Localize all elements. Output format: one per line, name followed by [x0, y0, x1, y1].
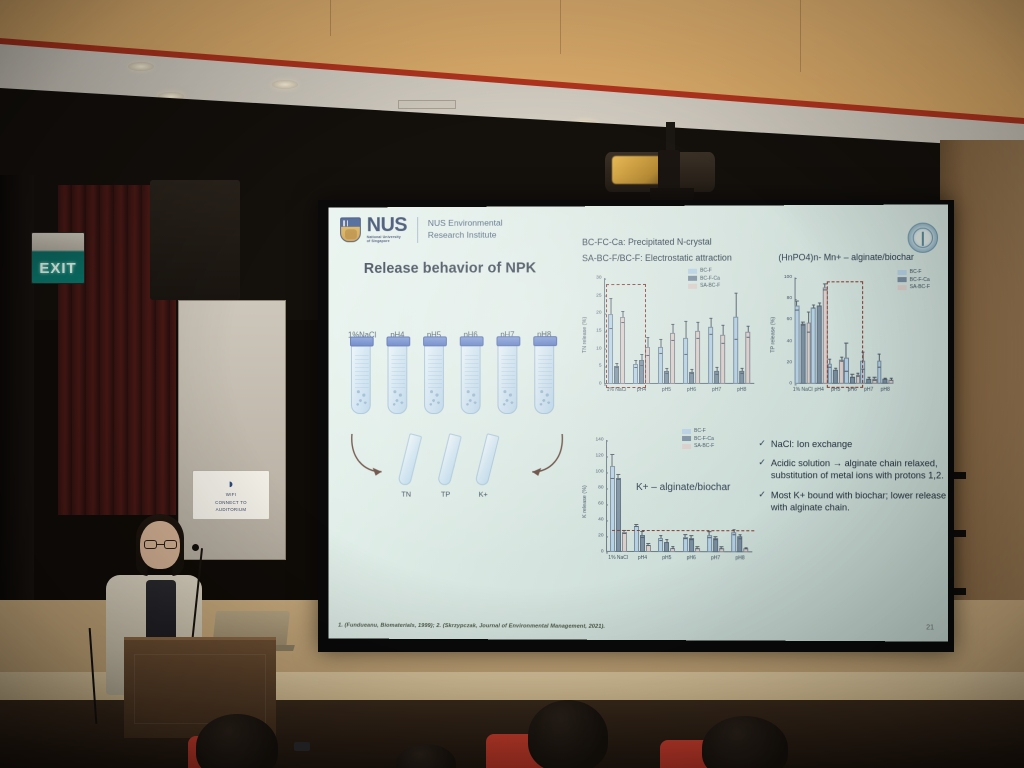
vial-k: [475, 433, 500, 486]
bar-bc-f: [708, 327, 713, 384]
legend-swatch: [688, 268, 697, 273]
legend-swatch: [898, 277, 907, 282]
y-tick-label: 60: [787, 318, 795, 323]
nus-logo: NUS National University of Singapore NUS…: [340, 216, 503, 245]
legend-item: BC-F: [898, 269, 930, 275]
bar-group: pH6: [679, 440, 703, 552]
legend-label: BC-F: [700, 268, 712, 274]
vial-tn: [397, 433, 422, 486]
mechanism-line-3: (HnPO4)n- Mn+ – alginate/biochar: [778, 251, 914, 265]
y-tick-label: 120: [596, 453, 606, 458]
x-tick-label: pH6: [687, 555, 696, 561]
centrifuge-tube-icon: [461, 342, 481, 414]
vial-label-k: K+: [479, 490, 488, 499]
ceiling-vent: [398, 100, 456, 109]
centrifuge-tube-icon: [388, 342, 408, 414]
bar-group: pH8: [877, 277, 894, 384]
legend-item: BC-F: [688, 268, 720, 274]
wall-speaker: [150, 180, 240, 300]
bar-bc-f: [877, 361, 882, 384]
check-icon: ✓: [758, 489, 766, 514]
bar-bc-f-ca: [689, 372, 694, 384]
glasses-icon: [144, 540, 177, 549]
bar-group: 1% NaCl: [606, 440, 630, 552]
chart-k-release: 020406080100120140K release (%)1% NaClpH…: [580, 428, 760, 578]
x-tick-label: pH4: [638, 555, 647, 561]
bar-sa-bc-f: [646, 545, 651, 552]
bullet-text: Acidic solution → alginate chain relaxed…: [771, 457, 948, 482]
y-tick-label: 15: [596, 329, 604, 334]
bar-group: pH6: [679, 278, 704, 384]
footer-references: 1. (Fundueanu, Biomaterials, 1999); 2. (…: [338, 623, 605, 630]
legend-swatch: [688, 276, 697, 281]
check-icon: ✓: [758, 438, 766, 450]
legend-item: BC-F-Ca: [898, 277, 930, 283]
bar-bc-f: [733, 317, 738, 384]
y-tick-label: 40: [787, 339, 795, 344]
slide-number: 21: [926, 624, 934, 631]
institute-line-2: Research Institute: [428, 230, 503, 242]
bar-bc-f-ca: [866, 378, 871, 383]
bullet-text: NaCl: Ion exchange: [771, 438, 852, 450]
x-tick-label: pH8: [735, 555, 744, 561]
conclusion-bullets: ✓NaCl: Ion exchange✓Acidic solution → al…: [758, 438, 948, 521]
tube-column-0: 1%NaCl: [348, 331, 374, 414]
plot-area: 020406080100120140K release (%)1% NaClpH…: [606, 440, 752, 552]
tube-column-4: pH7: [494, 330, 520, 414]
bar-bc-f-ca: [689, 538, 694, 552]
legend-item: SA-BC-F: [682, 443, 714, 449]
x-tick-label: pH7: [711, 555, 720, 561]
bar-bc-f-ca: [616, 478, 621, 552]
bar-group: pH4: [811, 277, 827, 383]
nus-logo-word: NUS: [367, 216, 407, 235]
legend-swatch: [688, 283, 697, 288]
nus-crest-icon: [340, 218, 361, 243]
x-tick-label: pH4: [815, 386, 824, 392]
projection-screen: NUS National University of Singapore NUS…: [318, 200, 954, 652]
highlight-box: [606, 284, 646, 388]
mechanism-line-2: SA-BC-F/BC-F: Electrostatic attraction: [582, 252, 732, 266]
bullet-item-2: ✓Most K+ bound with biochar; lower relea…: [758, 489, 948, 514]
x-tick-label: 1% NaCl: [793, 386, 813, 392]
legend-item: SA-BC-F: [688, 283, 720, 289]
slide-title: Release behavior of NPK: [364, 260, 536, 277]
bar-group: 1% NaCl: [795, 277, 811, 383]
side-wall-panel: [178, 300, 286, 560]
highlight-box: [827, 281, 863, 388]
x-tick-label: pH8: [881, 386, 890, 392]
bar-bc-f: [683, 537, 688, 552]
bar-bc-f-ca: [738, 537, 743, 553]
product-vials: TN TP K+: [399, 432, 528, 494]
microphone-icon: [192, 544, 199, 551]
vial-label-tn: TN: [401, 490, 411, 499]
bar-bc-f: [683, 338, 688, 384]
phone-on-desk: [294, 742, 310, 751]
ceiling-light-icon: [128, 62, 154, 71]
y-tick-label: 140: [596, 437, 606, 442]
legend-item: BC-F-Ca: [682, 436, 714, 442]
legend-swatch: [898, 285, 907, 290]
legend-swatch: [682, 429, 691, 434]
y-tick-label: 100: [596, 469, 606, 474]
bar-group: pH8: [728, 440, 752, 552]
tube-column-3: pH6: [458, 330, 484, 414]
bar-sa-bc-f: [719, 548, 724, 552]
bar-bc-f-ca: [664, 542, 669, 552]
y-tick-label: 20: [596, 311, 604, 316]
y-axis-label: TN release (%): [582, 317, 588, 353]
bar-sa-bc-f: [744, 549, 749, 553]
y-axis-label: TP release (%): [770, 317, 776, 353]
bar-bc-f: [658, 347, 663, 384]
bar-bc-f-ca: [664, 371, 669, 384]
chart-legend: BC-FBC-F-CaSA-BC-F: [898, 269, 930, 292]
bullet-item-1: ✓Acidic solution → alginate chain relaxe…: [758, 457, 948, 482]
legend-label: SA-BC-F: [700, 283, 720, 289]
bar-sa-bc-f: [889, 380, 894, 384]
tube-column-1: pH4: [385, 330, 411, 414]
bar-bc-f-ca: [714, 371, 719, 384]
wifi-sign-line1: WIFI: [226, 492, 236, 498]
centrifuge-tube-icon: [534, 342, 554, 414]
bar-bc-f-ca: [713, 539, 718, 553]
x-tick-label: pH8: [737, 386, 746, 392]
y-tick-label: 60: [598, 501, 606, 506]
wifi-icon: ◗: [227, 477, 235, 490]
y-tick-label: 100: [784, 275, 795, 280]
bar-bc-f: [795, 306, 800, 384]
bullet-text: Most K+ bound with biochar; lower releas…: [771, 489, 948, 514]
partner-seal-icon: [908, 223, 938, 253]
institute-line-1: NUS Environmental: [428, 218, 503, 230]
legend-label: BC-F: [910, 269, 922, 275]
x-tick-label: pH7: [864, 386, 873, 392]
vial-label-tp: TP: [441, 490, 450, 499]
y-tick-label: 80: [787, 296, 795, 301]
chart-annotation: K+ – alginate/biochar: [636, 482, 730, 493]
tube-column-2: pH5: [421, 330, 447, 414]
bar-sa-bc-f: [670, 548, 675, 552]
legend-item: BC-F: [682, 428, 714, 434]
bullet-item-0: ✓NaCl: Ion exchange: [758, 438, 948, 450]
x-tick-label: pH5: [662, 386, 671, 392]
experiment-diagram: 1%NaClpH4pH5pH6pH7pH8 TN TP K+: [342, 324, 572, 506]
legend-label: BC-F: [694, 428, 706, 434]
bar-sa-bc-f: [622, 532, 627, 552]
bar-bc-f-ca: [817, 305, 822, 384]
legend-swatch: [898, 270, 907, 275]
y-tick-label: 20: [598, 533, 606, 538]
centrifuge-tube-icon: [424, 342, 444, 414]
ceiling-light-icon: [272, 80, 298, 89]
bar-sa-bc-f: [695, 331, 700, 384]
presentation-slide: NUS National University of Singapore NUS…: [328, 204, 948, 641]
x-tick-label: 1% NaCl: [608, 554, 628, 560]
bar-sa-bc-f: [745, 332, 750, 384]
arrow-left-icon: [346, 428, 397, 480]
logo-divider: [417, 217, 418, 243]
legend-item: SA-BC-F: [898, 284, 930, 290]
legend-label: BC-F-Ca: [694, 436, 714, 442]
legend-label: BC-F-Ca: [700, 275, 720, 281]
bar-group: pH7: [704, 278, 729, 384]
audience-head: [528, 700, 608, 768]
left-pillar: [0, 175, 34, 605]
x-tick-label: pH5: [662, 555, 671, 561]
legend-item: BC-F-Ca: [688, 275, 720, 281]
bar-group: pH7: [703, 440, 727, 552]
nus-logo-sub-2: of Singapore: [367, 239, 407, 244]
bar-bc-f-ca: [640, 535, 645, 552]
bar-sa-bc-f: [695, 548, 700, 552]
bar-group: pH5: [655, 440, 679, 552]
centrifuge-tube-icon: [497, 342, 517, 414]
chart-tn-release: 051015202530TN release (%)1% NaClpH4pH5p…: [580, 268, 760, 408]
wifi-sign-line3: AUDITORIUM: [216, 507, 247, 513]
legend-swatch: [682, 444, 691, 449]
bar-bc-f: [732, 533, 737, 553]
x-tick-label: pH6: [687, 386, 696, 392]
chart-legend: BC-FBC-F-CaSA-BC-F: [688, 268, 720, 291]
mechanism-line-1: BC-FC-Ca: Precipitated N-crystal: [582, 236, 712, 250]
bar-group: pH8: [729, 278, 754, 384]
y-tick-label: 30: [596, 276, 604, 281]
wifi-sign-line2: CONNECT TO: [215, 500, 247, 506]
tube-column-5: pH8: [531, 330, 557, 414]
bar-bc-f: [610, 466, 615, 552]
bar-group: pH5: [654, 278, 679, 384]
bar-sa-bc-f: [720, 334, 725, 384]
bar-bc-f: [707, 535, 712, 552]
legend-label: SA-BC-F: [694, 443, 714, 449]
centrifuge-tube-icon: [351, 343, 371, 415]
check-icon: ✓: [758, 457, 766, 482]
lecture-hall-photo: EXIT ◗ WIFI CONNECT TO AUDITORIUM NUS Na…: [0, 0, 1024, 768]
y-tick-label: 10: [596, 346, 604, 351]
bar-bc-f-ca: [800, 324, 805, 384]
chart-tp-release: 020406080100TP release (%)1% NaClpH4pH5p…: [768, 267, 948, 408]
legend-swatch: [682, 436, 691, 441]
bar-group: pH4: [630, 440, 654, 552]
legend-label: BC-F-Ca: [910, 277, 930, 283]
y-axis-label: K release (%): [582, 485, 588, 518]
x-tick-label: pH7: [712, 386, 721, 392]
y-tick-label: 80: [598, 485, 606, 490]
legend-label: SA-BC-F: [910, 284, 930, 290]
bar-bc-f-ca: [739, 371, 744, 384]
bar-bc-f: [658, 538, 663, 552]
y-tick-label: 40: [598, 517, 606, 522]
bar-bc-f: [811, 307, 816, 384]
bar-sa-bc-f: [670, 333, 675, 384]
vial-tp: [437, 433, 462, 486]
exit-sign-label: EXIT: [31, 256, 85, 280]
wifi-notice-sign: ◗ WIFI CONNECT TO AUDITORIUM: [192, 470, 270, 520]
bar-bc-f-ca: [883, 379, 888, 384]
y-tick-label: 25: [596, 293, 604, 298]
chart-legend: BC-FBC-F-CaSA-BC-F: [682, 428, 714, 451]
y-tick-label: 20: [787, 360, 795, 365]
